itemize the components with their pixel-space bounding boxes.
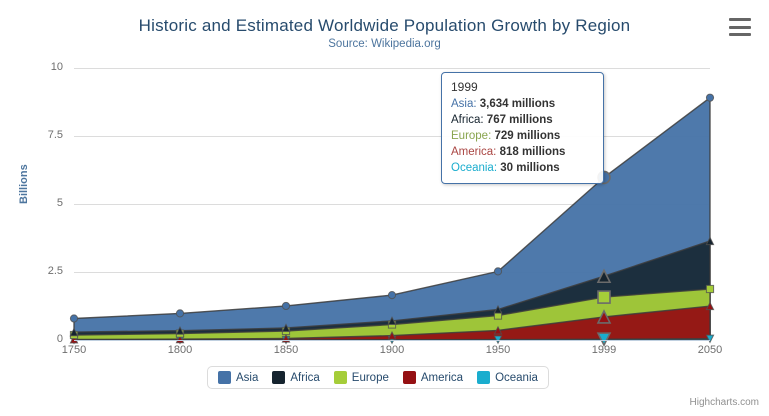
data-point-asia-1800[interactable] [176,310,183,317]
hamburger-menu-icon[interactable] [729,18,751,36]
data-point-asia-1750[interactable] [70,315,77,322]
x-tick-label: 1750 [44,344,104,356]
data-point-europe-1999[interactable] [598,291,610,303]
tooltip-value: 3,634 millions [480,98,555,110]
tooltip-value: 767 millions [487,114,553,126]
menu-bar-2 [729,26,751,29]
legend-swatch-icon [334,371,347,384]
legend-label: Europe [352,372,389,384]
data-point-europe-2050[interactable] [706,285,713,292]
tooltip-row-oceania: Oceania: 30 millions [451,160,594,176]
y-tick-label: 5 [3,197,63,209]
tooltip-row-asia: Asia: 3,634 millions [451,96,594,112]
x-tick-label: 1950 [468,344,528,356]
tooltip-row-africa: Africa: 767 millions [451,112,594,128]
tooltip-row-america: America: 818 millions [451,144,594,160]
tooltip-header: 1999 [451,79,594,96]
x-tick-label: 1850 [256,344,316,356]
legend-label: Oceania [495,372,538,384]
legend-item-africa[interactable]: Africa [272,371,319,384]
data-point-asia-1900[interactable] [388,292,395,299]
legend-item-europe[interactable]: Europe [334,371,389,384]
legend-item-oceania[interactable]: Oceania [477,371,538,384]
menu-bar-3 [729,33,751,36]
x-tick-label: 1900 [362,344,422,356]
y-tick-label: 2.5 [3,265,63,277]
legend-item-america[interactable]: America [403,371,463,384]
data-point-asia-1850[interactable] [282,302,289,309]
tooltip-key: Asia: [451,98,480,110]
legend-label: America [421,372,463,384]
chart-title: Historic and Estimated Worldwide Populat… [0,16,769,36]
tooltip-value: 30 millions [500,162,559,174]
y-tick-label: 7.5 [3,129,63,141]
chart-subtitle: Source: Wikipedia.org [0,38,769,50]
x-tick-label: 2050 [680,344,740,356]
credits-link[interactable]: Highcharts.com [690,397,759,408]
menu-bar-1 [729,18,751,21]
tooltip-value: 818 millions [500,146,566,158]
series-layer[interactable] [74,68,710,340]
x-tick-label: 1800 [150,344,210,356]
legend-label: Africa [290,372,319,384]
data-point-asia-1950[interactable] [494,268,501,275]
legend-swatch-icon [218,371,231,384]
x-axis-line [74,340,710,341]
tooltip-key: America: [451,146,500,158]
tooltip: 1999 Asia: 3,634 millionsAfrica: 767 mil… [441,72,604,184]
x-tick-label: 1999 [574,344,634,356]
y-tick-label: 10 [3,61,63,73]
highcharts-container[interactable]: Historic and Estimated Worldwide Populat… [0,0,769,416]
tooltip-key: Europe: [451,130,494,142]
tooltip-key: Africa: [451,114,487,126]
legend-item-asia[interactable]: Asia [218,371,258,384]
legend[interactable]: AsiaAfricaEuropeAmericaOceania [207,366,549,389]
legend-swatch-icon [272,371,285,384]
data-point-asia-2050[interactable] [706,94,713,101]
tooltip-row-europe: Europe: 729 millions [451,128,594,144]
legend-swatch-icon [403,371,416,384]
plot-area[interactable] [74,68,710,340]
tooltip-value: 729 millions [494,130,560,142]
legend-label: Asia [236,372,258,384]
tooltip-key: Oceania: [451,162,500,174]
legend-swatch-icon [477,371,490,384]
legend-items[interactable]: AsiaAfricaEuropeAmericaOceania [218,371,538,384]
tooltip-rows: Asia: 3,634 millionsAfrica: 767 millions… [451,96,594,176]
